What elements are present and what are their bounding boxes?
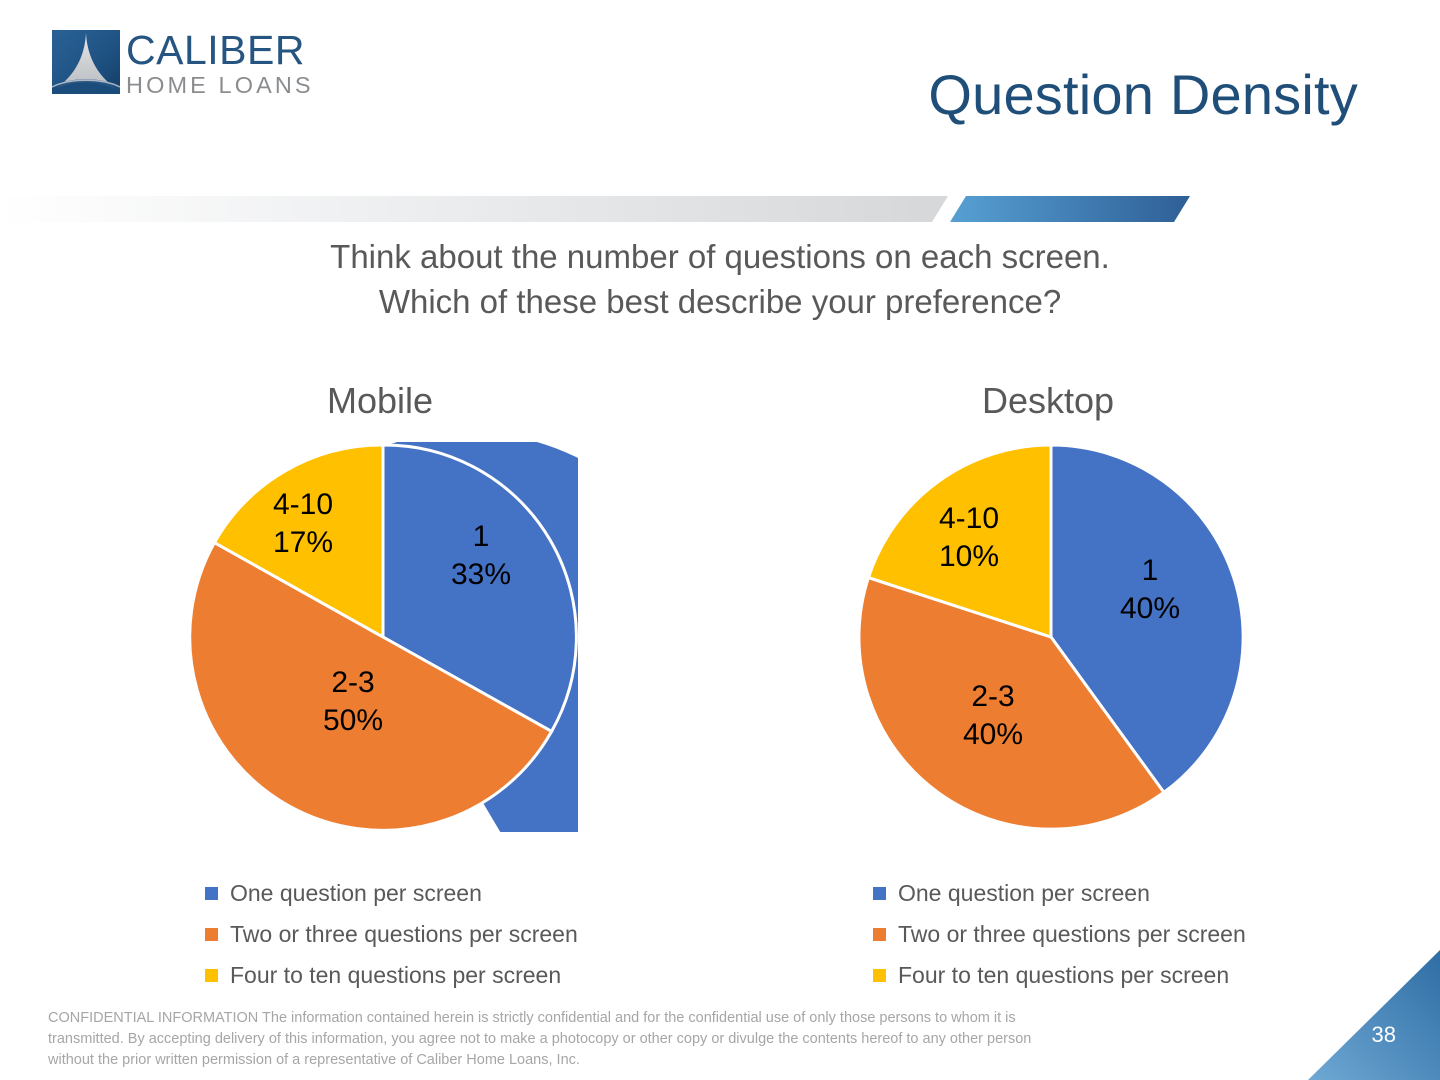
legend-mobile: One question per screen Two or three que…	[205, 873, 685, 996]
legend-swatch-blue-icon	[205, 887, 218, 900]
slide: CALIBER HOME LOANS Question Density Thin…	[0, 0, 1440, 1080]
legend-label-desktop-one: One question per screen	[898, 880, 1150, 907]
legend-item-desktop-four-ten[interactable]: Four to ten questions per screen	[873, 955, 1353, 996]
legend-swatch-blue-icon	[873, 887, 886, 900]
logo-caliber-text: CALIBER	[126, 28, 356, 72]
pie-chart-desktop: Desktop 1 40% 2-3 40% 4-10 10%	[738, 380, 1358, 1000]
legend-item-desktop-one[interactable]: One question per screen	[873, 873, 1353, 914]
survey-question-prompt: Think about the number of questions on e…	[0, 234, 1440, 324]
page-title: Question Density	[928, 62, 1358, 127]
pie-desktop-canvas: 1 40% 2-3 40% 4-10 10%	[856, 442, 1246, 832]
legend-label-mobile-two-three: Two or three questions per screen	[230, 921, 578, 948]
corner-accent-triangle	[1290, 950, 1440, 1080]
legend-swatch-orange-icon	[205, 928, 218, 941]
caliber-arch-mark-icon	[52, 30, 120, 96]
caliber-home-loans-logo: CALIBER HOME LOANS	[52, 30, 352, 100]
prompt-line-1: Think about the number of questions on e…	[0, 234, 1440, 279]
legend-swatch-yellow-icon	[205, 969, 218, 982]
page-number: 38	[1372, 1022, 1396, 1048]
prompt-line-2: Which of these best describe your prefer…	[0, 279, 1440, 324]
legend-item-mobile-four-ten[interactable]: Four to ten questions per screen	[205, 955, 685, 996]
legend-label-desktop-four-ten: Four to ten questions per screen	[898, 962, 1229, 989]
chart-title-desktop: Desktop	[738, 380, 1358, 422]
legend-item-mobile-one[interactable]: One question per screen	[205, 873, 685, 914]
legend-label-desktop-two-three: Two or three questions per screen	[898, 921, 1246, 948]
legend-label-mobile-four-ten: Four to ten questions per screen	[230, 962, 561, 989]
logo-home-loans-text: HOME LOANS	[126, 72, 356, 98]
legend-swatch-yellow-icon	[873, 969, 886, 982]
pie-mobile-canvas: 1 33% 2-3 50% 4-10 17%	[188, 442, 578, 832]
legend-swatch-orange-icon	[873, 928, 886, 941]
decorative-divider-bar	[0, 192, 1440, 224]
legend-item-mobile-two-three[interactable]: Two or three questions per screen	[205, 914, 685, 955]
legend-item-desktop-two-three[interactable]: Two or three questions per screen	[873, 914, 1353, 955]
legend-desktop: One question per screen Two or three que…	[873, 873, 1353, 996]
confidentiality-footer: CONFIDENTIAL INFORMATION The information…	[48, 1008, 1078, 1071]
logo-wordmark: CALIBER HOME LOANS	[126, 28, 356, 98]
chart-title-mobile: Mobile	[70, 380, 690, 422]
legend-label-mobile-one: One question per screen	[230, 880, 482, 907]
pie-chart-mobile: Mobile 1 33% 2-3 50% 4-10 17%	[70, 380, 690, 1000]
